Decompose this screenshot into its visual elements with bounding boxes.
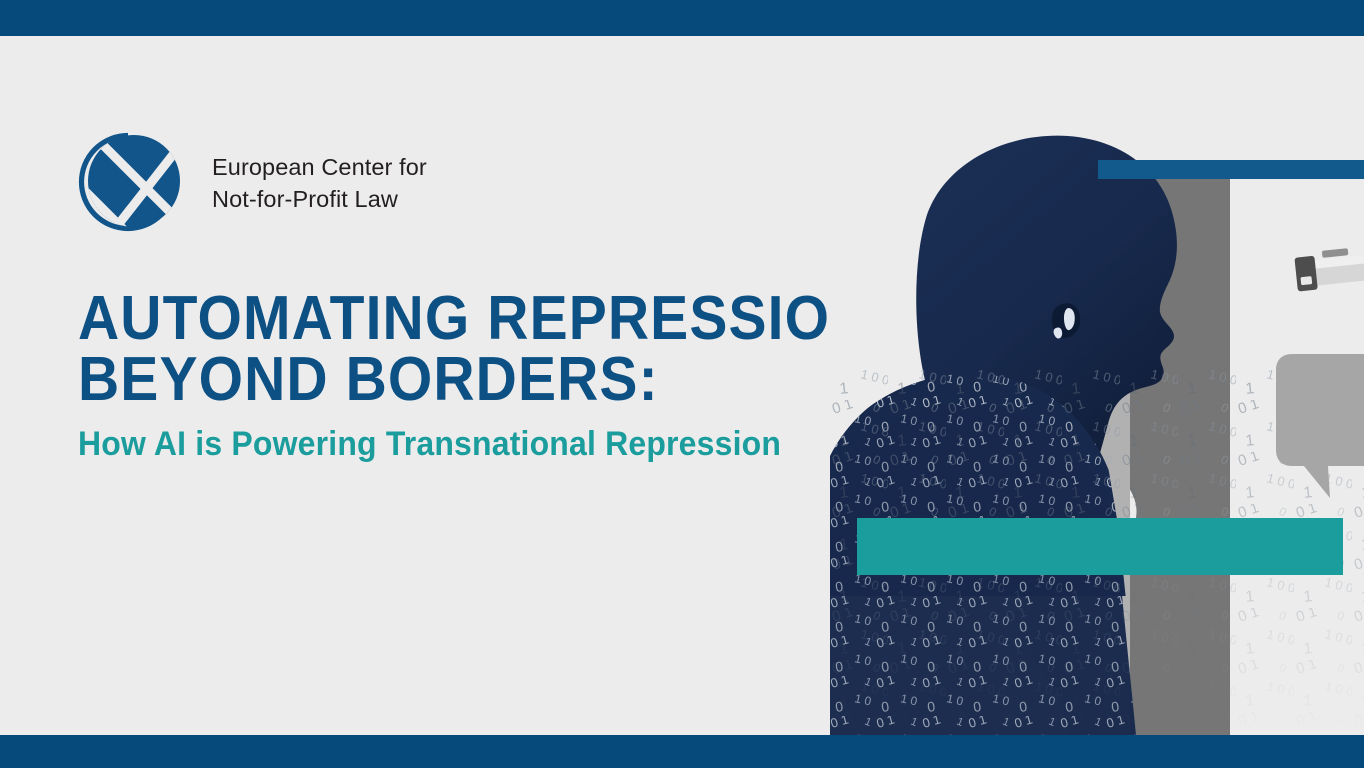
report-subtitle: How AI is Powering Transnational Repress… — [78, 427, 811, 463]
top-brand-bar — [0, 0, 1364, 36]
organization-name: European Center for Not-for-Profit Law — [212, 151, 427, 216]
report-title: AUTOMATING REPRESSION BEYOND BORDERS: — [78, 288, 796, 411]
eccnl-circle-logo-icon — [74, 126, 188, 240]
organization-name-line2: Not-for-Profit Law — [212, 183, 427, 215]
teal-accent-bar — [857, 518, 1343, 575]
report-cover: European Center for Not-for-Profit Law A… — [0, 0, 1364, 768]
illustration-svg: 0 1 1 0 0 1 0 1 1 0 0 1 0 — [830, 36, 1364, 735]
report-title-line2: BEYOND BORDERS: — [78, 349, 796, 410]
cover-illustration: 0 1 1 0 0 1 0 1 1 0 0 1 0 — [830, 36, 1364, 735]
blue-accent-bar — [1098, 160, 1364, 179]
organization-logo-lockup: European Center for Not-for-Profit Law — [74, 126, 427, 240]
bottom-brand-bar — [0, 735, 1364, 768]
organization-name-line1: European Center for — [212, 151, 427, 183]
report-title-line1: AUTOMATING REPRESSION — [78, 284, 872, 353]
title-block: AUTOMATING REPRESSION BEYOND BORDERS: Ho… — [78, 288, 858, 462]
